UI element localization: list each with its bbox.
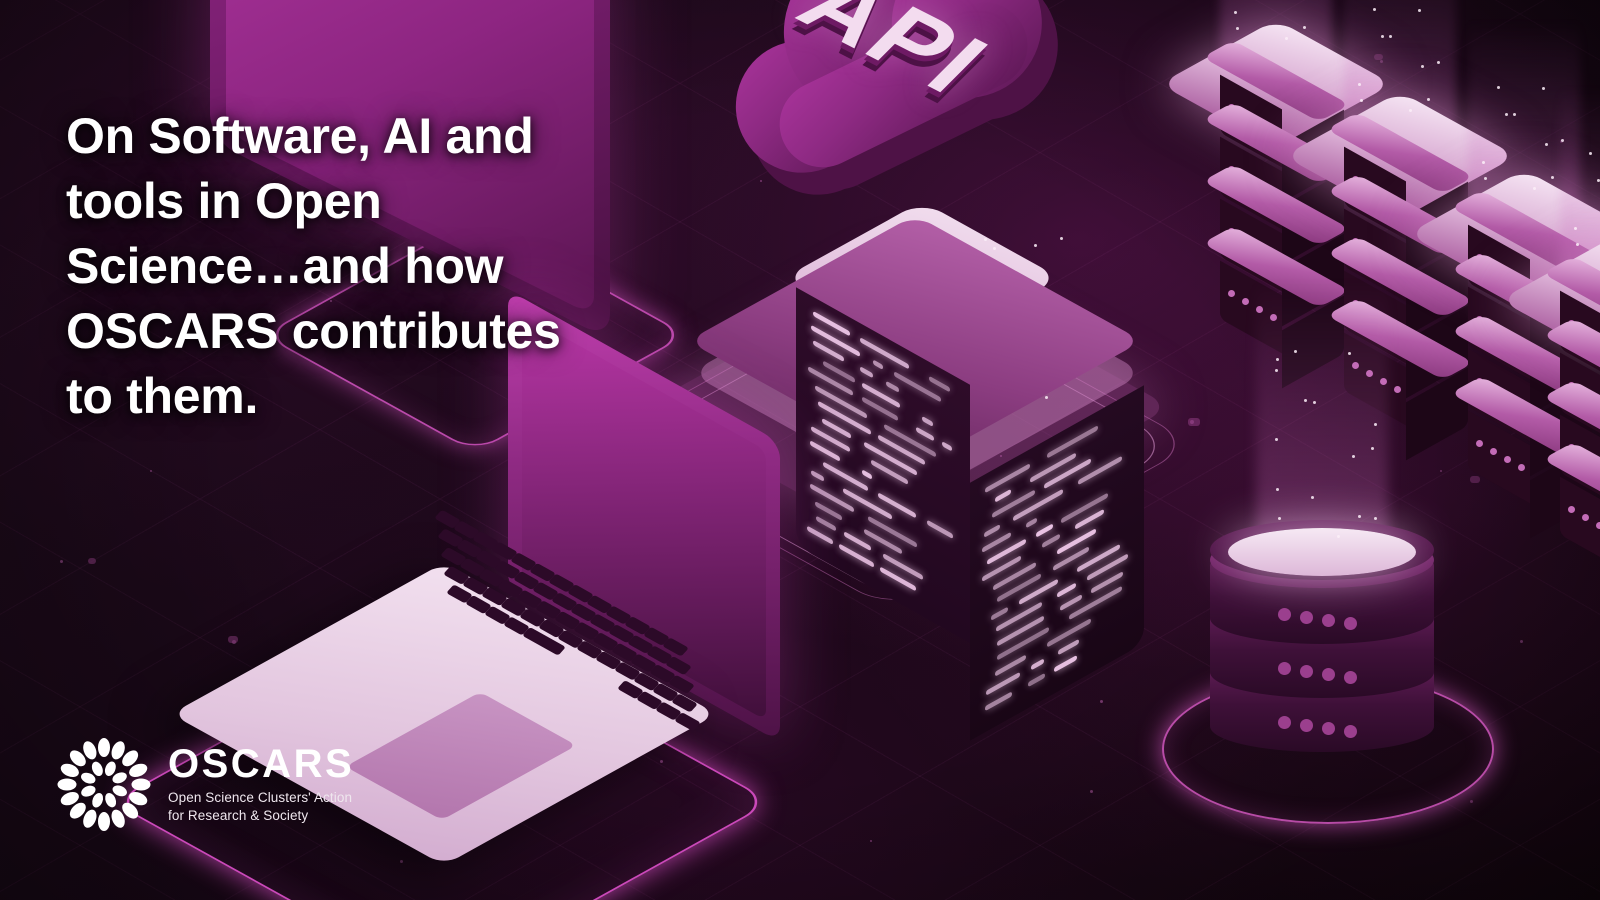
oscars-tagline-line-2: for Research & Society bbox=[168, 807, 354, 825]
cube-code-line bbox=[823, 462, 867, 492]
logo-petal bbox=[98, 812, 110, 831]
cube-code-line bbox=[1060, 593, 1082, 610]
logo-petal bbox=[98, 738, 110, 757]
sparkle bbox=[1337, 535, 1340, 538]
database-led bbox=[1278, 662, 1291, 675]
sparkle bbox=[1285, 37, 1288, 40]
cube-code-line bbox=[993, 561, 1036, 590]
rack-unit bbox=[1552, 466, 1600, 588]
rack-led bbox=[1394, 386, 1401, 393]
oscars-tagline-line-1: Open Science Clusters' Action bbox=[168, 789, 354, 807]
page-title-line-5: to them. bbox=[66, 364, 666, 429]
logo-petal bbox=[132, 778, 151, 790]
background-node bbox=[228, 636, 238, 643]
cube-code-line bbox=[1047, 617, 1091, 647]
cube-code-line bbox=[991, 606, 1009, 621]
background-dot bbox=[60, 560, 63, 563]
database-led bbox=[1344, 725, 1357, 738]
database-illustration bbox=[1186, 520, 1466, 820]
cube-code-line bbox=[1087, 553, 1129, 581]
cube-code-line bbox=[886, 381, 899, 393]
sparkle bbox=[1505, 113, 1508, 116]
cube-code-line bbox=[996, 602, 1042, 633]
database-led bbox=[1344, 617, 1357, 630]
database-led bbox=[1322, 722, 1335, 735]
cube-code-line bbox=[942, 441, 952, 452]
database-led bbox=[1322, 614, 1335, 627]
sparkle bbox=[1533, 187, 1536, 190]
oscars-logo: OSCARS Open Science Clusters' Action for… bbox=[56, 736, 354, 832]
background-dot bbox=[150, 470, 152, 472]
database-top-face bbox=[1228, 528, 1416, 576]
background-dot bbox=[1440, 470, 1442, 472]
cube-code-line bbox=[1058, 639, 1079, 656]
background-node bbox=[1188, 418, 1200, 426]
sparkle bbox=[1409, 109, 1412, 112]
database-led bbox=[1278, 608, 1291, 621]
cube-code-line bbox=[927, 520, 954, 540]
cube-code-line bbox=[860, 366, 873, 378]
database-led bbox=[1300, 719, 1313, 732]
background-dot bbox=[1470, 800, 1473, 803]
sparkle bbox=[1437, 61, 1440, 64]
rack-led bbox=[1596, 522, 1600, 529]
cube-code-line bbox=[868, 516, 917, 548]
cube-code-line bbox=[1036, 523, 1053, 538]
cube-code-line bbox=[862, 469, 873, 480]
page-title: On Software, AI andtools in OpenScience…… bbox=[66, 104, 666, 429]
sparkle bbox=[1313, 401, 1316, 404]
sparkle bbox=[1352, 455, 1355, 458]
cube-code-line bbox=[1044, 458, 1091, 489]
database-led bbox=[1322, 668, 1335, 681]
sparkle bbox=[1542, 87, 1545, 90]
sparkle bbox=[1303, 26, 1306, 29]
cube-code-line bbox=[984, 523, 1000, 537]
background-dot bbox=[1520, 640, 1523, 643]
page-title-line-4: OSCARS contributes bbox=[66, 299, 666, 364]
cube-code-line bbox=[997, 573, 1041, 603]
rack-led bbox=[1582, 514, 1589, 521]
database-led bbox=[1278, 716, 1291, 729]
rack-led bbox=[1504, 456, 1511, 463]
oscars-wordmark: OSCARS bbox=[168, 744, 354, 784]
sparkle bbox=[1418, 9, 1421, 12]
logo-petal bbox=[58, 778, 77, 790]
cube-code-line bbox=[843, 487, 891, 519]
cube-code-line bbox=[1028, 672, 1045, 687]
cube-code-line bbox=[873, 359, 883, 370]
banner-graphic: API On Software, AI andtools in OpenScie… bbox=[0, 0, 1600, 900]
oscars-tagline: Open Science Clusters' Action for Resear… bbox=[168, 789, 354, 825]
page-title-line-3: Science…and how bbox=[66, 234, 666, 299]
database-led bbox=[1300, 665, 1313, 678]
cube-code-line bbox=[995, 488, 1011, 502]
cube-code-line bbox=[916, 427, 934, 442]
cube-code-line bbox=[878, 434, 925, 465]
cube-code-line bbox=[929, 376, 950, 393]
rack-led bbox=[1490, 448, 1497, 455]
cube-code-line bbox=[986, 672, 1021, 696]
cube-code-line bbox=[1054, 654, 1077, 672]
oscars-logo-text: OSCARS Open Science Clusters' Action for… bbox=[168, 744, 354, 825]
sparkle bbox=[1371, 447, 1374, 450]
sparkle bbox=[1381, 35, 1384, 38]
background-dot bbox=[1100, 700, 1103, 703]
database-led bbox=[1300, 611, 1313, 624]
cube-code-line bbox=[992, 489, 1035, 518]
rack-led bbox=[1476, 440, 1483, 447]
cube-code-line bbox=[922, 415, 933, 426]
cube-code-line bbox=[1026, 517, 1037, 528]
rack-led bbox=[1242, 298, 1249, 305]
rack-led bbox=[1568, 506, 1575, 513]
sparkle bbox=[1275, 369, 1278, 372]
cube-code-line bbox=[985, 463, 1030, 493]
sparkle bbox=[1427, 98, 1430, 101]
background-dot bbox=[870, 840, 872, 842]
oscars-logo-mark-icon bbox=[56, 736, 152, 832]
cube-code-line bbox=[1077, 543, 1120, 572]
sparkle bbox=[1276, 358, 1279, 361]
database-led bbox=[1344, 671, 1357, 684]
rack-unit-left-face bbox=[1560, 477, 1600, 570]
cube-code-line bbox=[1042, 533, 1060, 548]
page-title-line-1: On Software, AI and bbox=[66, 104, 666, 169]
page-title-line-2: tools in Open bbox=[66, 169, 666, 234]
rack-led bbox=[1228, 290, 1235, 297]
background-dot bbox=[1090, 790, 1093, 793]
cube-code-line bbox=[1013, 488, 1063, 521]
background-node bbox=[88, 558, 96, 564]
cube-code-line bbox=[1078, 455, 1122, 485]
cube-code-line bbox=[1057, 583, 1076, 599]
sparkle bbox=[1275, 438, 1278, 441]
sparkle bbox=[1551, 176, 1554, 179]
cube-code-line bbox=[1031, 658, 1044, 670]
cube-code-line bbox=[894, 370, 942, 402]
rack-led bbox=[1518, 464, 1525, 471]
cube-code-line bbox=[1057, 528, 1096, 555]
